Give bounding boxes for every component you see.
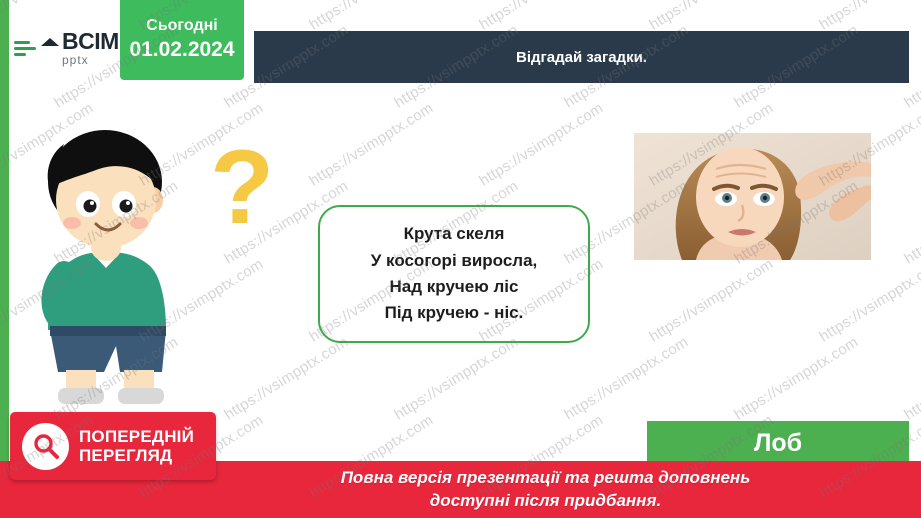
logo-title: BCIM: [62, 30, 119, 53]
preview-badge-line-2: ПЕРЕГЛЯД: [79, 446, 194, 465]
answer-text: Лоб: [754, 429, 802, 458]
bottom-banner-line-2: доступні після придбання.: [341, 490, 751, 513]
watermark-text: https://vsimpptx.com: [901, 333, 921, 423]
bottom-banner-text: Повна версія презентації та решта доповн…: [341, 467, 751, 513]
boy-illustration: [20, 120, 230, 420]
riddle-box: Крута скеля У косогорі виросла, Над круч…: [318, 205, 590, 343]
riddle-line-1: Крута скеля: [404, 221, 505, 247]
left-accent-bar: [0, 0, 9, 518]
preview-badge-line-1: ПОПЕРЕДНІЙ: [79, 427, 194, 446]
date-badge: Сьогодні 01.02.2024: [120, 0, 244, 80]
riddle-line-2: У косогорі виросла,: [371, 248, 538, 274]
watermark-text: https://vsimpptx.com: [816, 0, 921, 34]
watermark-text: https://vsimpptx.com: [816, 255, 921, 345]
watermark-text: https://vsimpptx.com: [306, 99, 436, 189]
riddle-line-4: Під кручею - ніс.: [385, 300, 524, 326]
logo-title-row: BCIM: [41, 30, 119, 53]
watermark-text: https://vsimpptx.com: [391, 333, 521, 423]
logo-lines-icon: [10, 41, 36, 56]
watermark-text: https://vsimpptx.com: [221, 333, 351, 423]
logo-subtitle: pptx: [62, 54, 119, 66]
question-mark-icon: ?: [205, 135, 285, 245]
logo-text: BCIM pptx: [41, 30, 119, 66]
answer-bar: Лоб: [647, 421, 909, 466]
watermark-text: https://vsimpptx.com: [561, 333, 691, 423]
preview-badge[interactable]: ПОПЕРЕДНІЙ ПЕРЕГЛЯД: [10, 412, 216, 480]
watermark-text: https://vsimpptx.com: [476, 99, 606, 189]
date-label: Сьогодні: [120, 16, 244, 35]
watermark-text: https://vsimpptx.com: [476, 0, 606, 34]
riddle-line-3: Над кручею ліс: [390, 274, 519, 300]
watermark-text: https://vsimpptx.com: [901, 177, 921, 267]
slide-title-bar: Відгадай загадки.: [254, 31, 909, 83]
preview-badge-label: ПОПЕРЕДНІЙ ПЕРЕГЛЯД: [79, 427, 194, 465]
watermark-text: https://vsimpptx.com: [731, 333, 861, 423]
svg-text:?: ?: [210, 135, 274, 245]
date-value: 01.02.2024: [120, 35, 244, 64]
woman-photo: [634, 133, 871, 260]
graduation-cap-icon: [41, 36, 60, 48]
slide-title: Відгадай загадки.: [516, 49, 647, 66]
magnifier-icon: [22, 423, 69, 470]
watermark-text: https://vsimpptx.com: [646, 0, 776, 34]
bottom-banner-line-1: Повна версія презентації та решта доповн…: [341, 467, 751, 490]
watermark-text: https://vsimpptx.com: [646, 255, 776, 345]
logo: BCIM pptx: [10, 22, 118, 74]
watermark-text: https://vsimpptx.com: [306, 0, 436, 34]
